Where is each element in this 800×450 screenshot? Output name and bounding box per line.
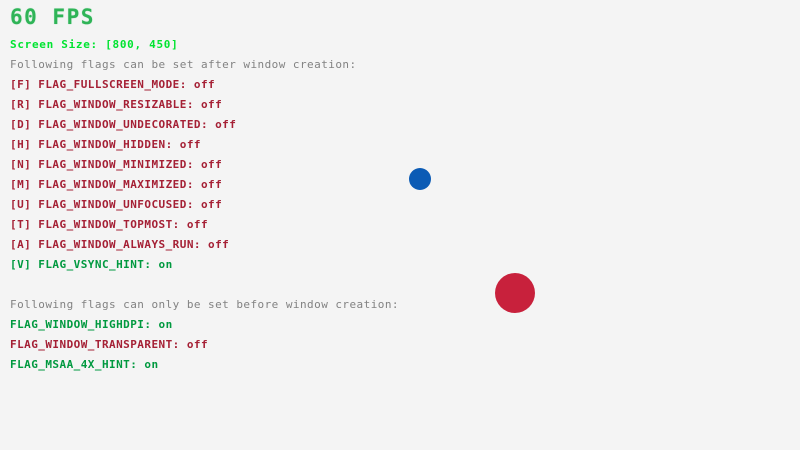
raylib-window-canvas[interactable]: 60 FPS Screen Size: [800, 450] Following… — [0, 0, 800, 450]
flag-row-window-hidden[interactable]: [H] FLAG_WINDOW_HIDDEN: off — [10, 139, 201, 151]
flag-row-window-topmost[interactable]: [T] FLAG_WINDOW_TOPMOST: off — [10, 219, 208, 231]
screen-size-readout: Screen Size: [800, 450] — [10, 39, 178, 51]
flag-row-window-unfocused[interactable]: [U] FLAG_WINDOW_UNFOCUSED: off — [10, 199, 222, 211]
flag-row-window-maximized[interactable]: [M] FLAG_WINDOW_MAXIMIZED: off — [10, 179, 222, 191]
flag-row-window-always-run[interactable]: [A] FLAG_WINDOW_ALWAYS_RUN: off — [10, 239, 229, 251]
large-red-ball — [495, 273, 535, 313]
flag-row-window-undecorated[interactable]: [D] FLAG_WINDOW_UNDECORATED: off — [10, 119, 236, 131]
flag-row-fullscreen-mode[interactable]: [F] FLAG_FULLSCREEN_MODE: off — [10, 79, 215, 91]
startup-flags-section-header: Following flags can only be set before w… — [10, 299, 399, 311]
flag-row-msaa-4x-hint: FLAG_MSAA_4X_HINT: on — [10, 359, 159, 371]
small-blue-ball — [409, 168, 431, 190]
flag-row-window-transparent: FLAG_WINDOW_TRANSPARENT: off — [10, 339, 208, 351]
flag-row-window-resizable[interactable]: [R] FLAG_WINDOW_RESIZABLE: off — [10, 99, 222, 111]
fps-counter: 60 FPS — [10, 6, 95, 28]
flag-row-window-highdpi: FLAG_WINDOW_HIGHDPI: on — [10, 319, 173, 331]
flag-row-window-minimized[interactable]: [N] FLAG_WINDOW_MINIMIZED: off — [10, 159, 222, 171]
flag-row-vsync-hint[interactable]: [V] FLAG_VSYNC_HINT: on — [10, 259, 173, 271]
runtime-flags-section-header: Following flags can be set after window … — [10, 59, 357, 71]
